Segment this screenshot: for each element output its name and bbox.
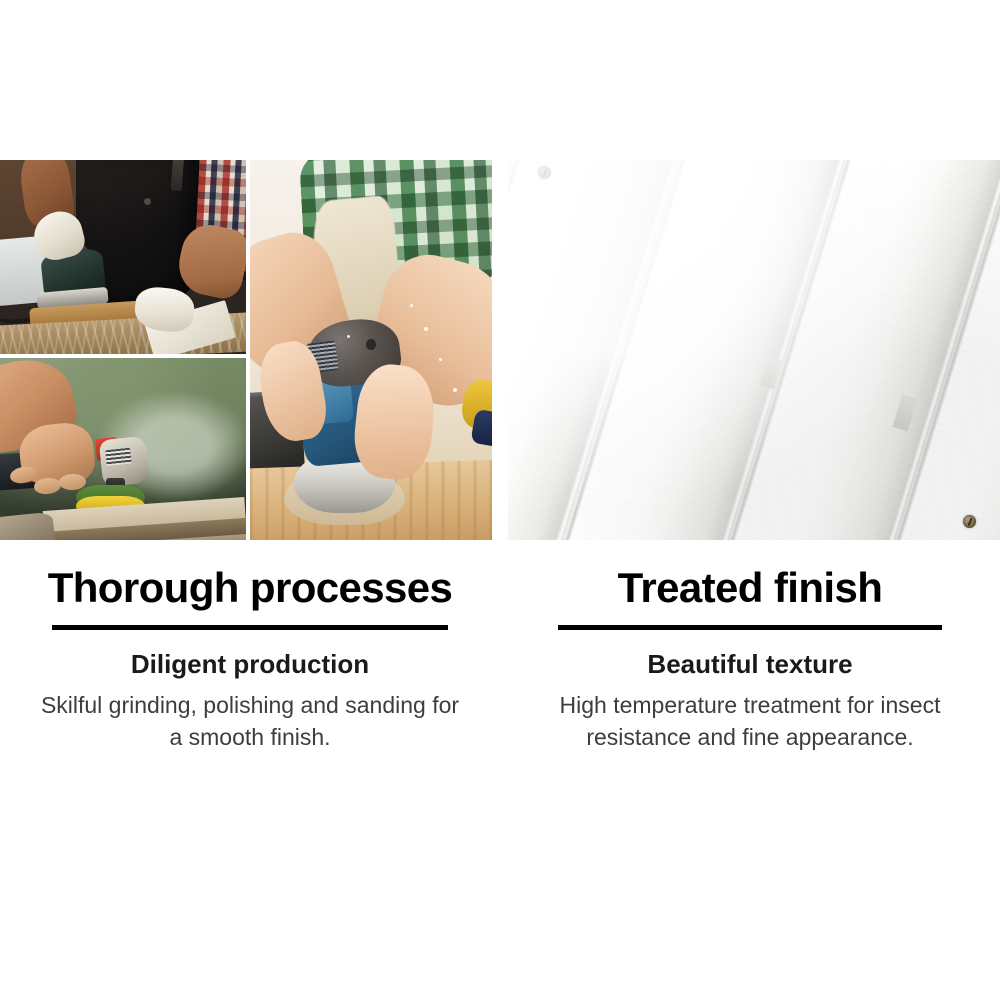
right-text-block: Treated finish Beautiful texture High te… (500, 566, 1000, 753)
left-body-text: Skilful grinding, polishing and sanding … (40, 689, 460, 753)
lighting-overlay (508, 160, 1000, 540)
left-heading: Thorough processes (0, 566, 500, 610)
dust-speck (439, 358, 442, 361)
sander-dust-port (366, 339, 376, 350)
left-subheading: Diligent production (0, 650, 500, 680)
apron-strap (171, 160, 185, 192)
scene-orbital-sander (0, 160, 246, 354)
feature-panel-page: Thorough processes Diligent production S… (0, 0, 1000, 1000)
grinder-vents (105, 448, 131, 467)
right-divider-rule (558, 625, 942, 630)
left-divider-rule (52, 625, 448, 630)
dust-speck (347, 335, 350, 338)
left-text-block: Thorough processes Diligent production S… (0, 566, 500, 753)
scene-white-slats (508, 160, 1000, 540)
image-random-orbit-sander-bench (250, 160, 492, 540)
image-orbital-sander-workbench (0, 160, 246, 354)
image-angle-grinder-polishing (0, 358, 246, 540)
stone-block (0, 511, 56, 540)
media-band (0, 160, 1000, 540)
scene-angle-grinder (0, 358, 246, 540)
apron-button (144, 198, 151, 205)
image-white-painted-timber-slats (508, 160, 1000, 540)
left-image-collage (0, 160, 492, 540)
right-body-text: High temperature treatment for insect re… (540, 689, 960, 753)
scene-random-orbit-sander (250, 160, 492, 540)
right-subheading: Beautiful texture (500, 650, 1000, 680)
right-heading: Treated finish (500, 566, 1000, 610)
